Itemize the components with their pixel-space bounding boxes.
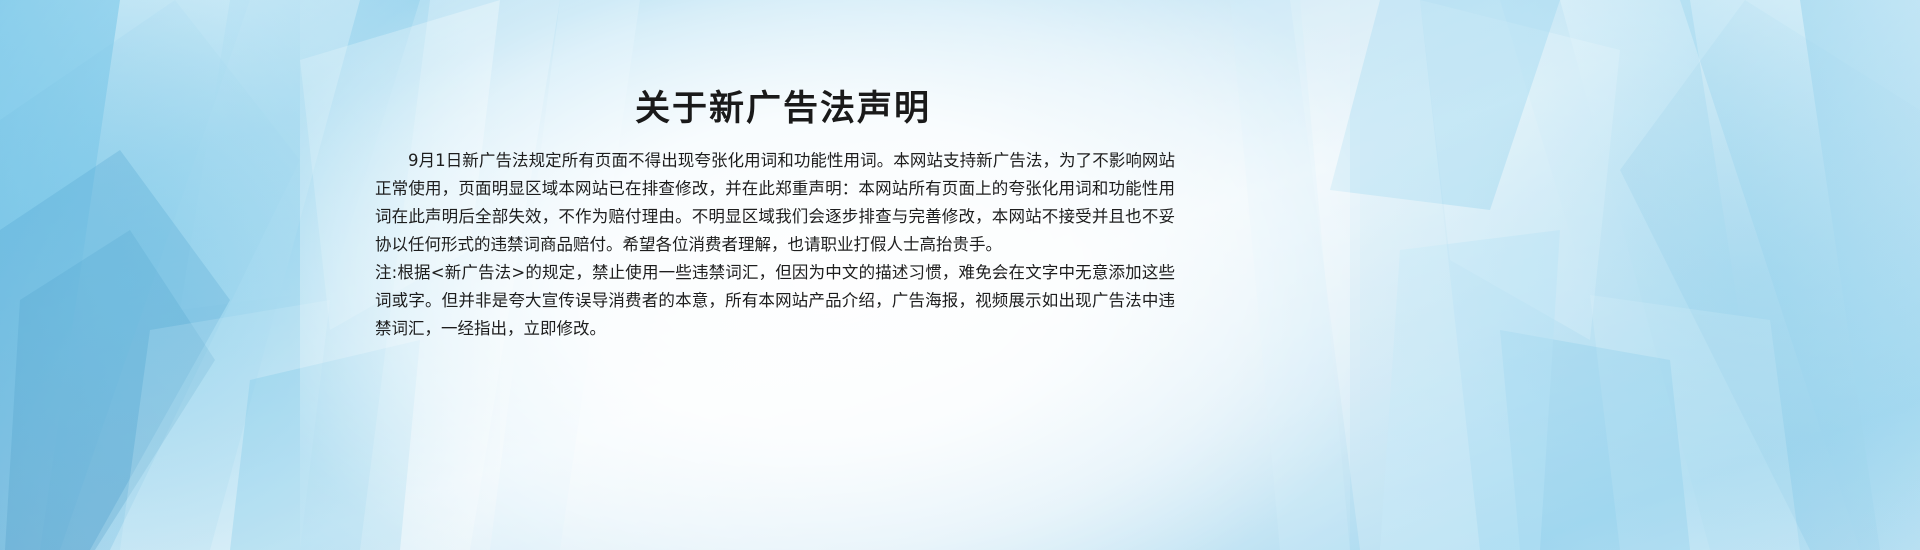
- statement-paragraph: 9月1日新广告法规定所有页面不得出现夸张化用词和功能性用词。本网站支持新广告法，…: [375, 147, 1175, 259]
- advertising-law-statement-banner: 关于新广告法声明 9月1日新广告法规定所有页面不得出现夸张化用词和功能性用词。本…: [0, 0, 1920, 550]
- page-title: 关于新广告法声明: [0, 88, 1566, 132]
- statement-content: 关于新广告法声明 9月1日新广告法规定所有页面不得出现夸张化用词和功能性用词。本…: [0, 0, 1920, 550]
- note-paragraph: 注:根据<新广告法>的规定，禁止使用一些违禁词汇，但因为中文的描述习惯，难免会在…: [375, 259, 1175, 343]
- statement-body: 9月1日新广告法规定所有页面不得出现夸张化用词和功能性用词。本网站支持新广告法，…: [375, 147, 1175, 343]
